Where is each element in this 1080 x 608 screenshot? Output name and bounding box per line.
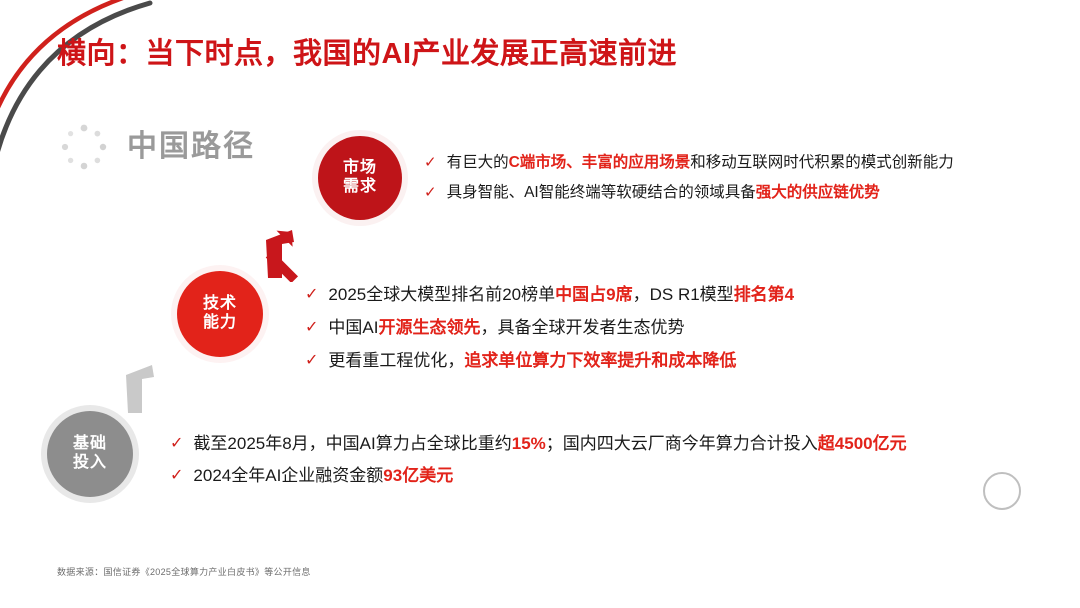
corner-arrow-icon-gray [122, 363, 168, 417]
bullet-group-base: ✓ 截至2025年8月，中国AI算力占全球比重约15%；国内四大云厂商今年算力合… [170, 428, 1010, 492]
badge-tech-line2: 能力 [203, 314, 237, 333]
check-icon: ✓ [305, 278, 318, 311]
bullet-group-tech: ✓ 2025全球大模型排名前20榜单中国占9席，DS R1模型排名第4 ✓ 中国… [305, 278, 1005, 377]
bullet-text: 具身智能、AI智能终端等软硬结合的领域具备强大的供应链优势 [447, 178, 1064, 208]
list-item: ✓ 2025全球大模型排名前20榜单中国占9席，DS R1模型排名第4 [305, 278, 1005, 311]
slide-canvas: 横向：当下时点，我国的AI产业发展正高速前进 中国路径 市场 需求 技术 能力 [0, 0, 1080, 608]
badge-base-line1: 基础 [73, 435, 107, 454]
bullet-text: 有巨大的C端市场、丰富的应用场景和移动互联网时代积累的模式创新能力 [447, 148, 1064, 178]
badge-market-line1: 市场 [343, 159, 377, 178]
check-icon: ✓ [305, 344, 318, 377]
page-title-text: 横向：当下时点，我国的AI产业发展正高速前进 [57, 40, 677, 69]
badge-foundational-investment[interactable]: 基础 投入 [47, 411, 133, 497]
badge-tech-capability[interactable]: 技术 能力 [177, 271, 263, 357]
list-item: ✓ 中国AI开源生态领先，具备全球开发者生态优势 [305, 311, 1005, 344]
dotted-ring-icon [55, 118, 113, 176]
data-source-note: 数据来源：国信证券《2025全球算力产业白皮书》等公开信息 [57, 565, 311, 578]
bullet-text: 中国AI开源生态领先，具备全球开发者生态优势 [328, 311, 1005, 344]
badge-base-line2: 投入 [73, 454, 107, 473]
check-icon: ✓ [424, 178, 437, 208]
check-icon: ✓ [170, 428, 183, 460]
badge-market-line2: 需求 [343, 178, 377, 197]
badge-market-demand[interactable]: 市场 需求 [318, 136, 402, 220]
bullet-text: 2025全球大模型排名前20榜单中国占9席，DS R1模型排名第4 [328, 278, 1005, 311]
bullet-text: 更看重工程优化，追求单位算力下效率提升和成本降低 [328, 344, 1005, 377]
section-heading: 中国路径 [55, 118, 255, 176]
check-icon: ✓ [305, 311, 318, 344]
list-item: ✓ 具身智能、AI智能终端等软硬结合的领域具备强大的供应链优势 [424, 178, 1064, 208]
check-icon: ✓ [424, 148, 437, 178]
list-item: ✓ 截至2025年8月，中国AI算力占全球比重约15%；国内四大云厂商今年算力合… [170, 428, 1010, 460]
check-icon: ✓ [170, 460, 183, 492]
circle-outline-icon [983, 472, 1021, 510]
corner-arrow-icon-red [262, 228, 308, 282]
list-item: ✓ 有巨大的C端市场、丰富的应用场景和移动互联网时代积累的模式创新能力 [424, 148, 1064, 178]
badge-tech-line1: 技术 [203, 295, 237, 314]
list-item: ✓ 2024全年AI企业融资金额93亿美元 [170, 460, 1010, 492]
section-label: 中国路径 [127, 132, 255, 162]
page-title: 横向：当下时点，我国的AI产业发展正高速前进 [57, 32, 677, 76]
bullet-group-market: ✓ 有巨大的C端市场、丰富的应用场景和移动互联网时代积累的模式创新能力 ✓ 具身… [424, 148, 1064, 208]
list-item: ✓ 更看重工程优化，追求单位算力下效率提升和成本降低 [305, 344, 1005, 377]
bullet-text: 截至2025年8月，中国AI算力占全球比重约15%；国内四大云厂商今年算力合计投… [193, 428, 1010, 460]
bullet-text: 2024全年AI企业融资金额93亿美元 [193, 460, 1010, 492]
